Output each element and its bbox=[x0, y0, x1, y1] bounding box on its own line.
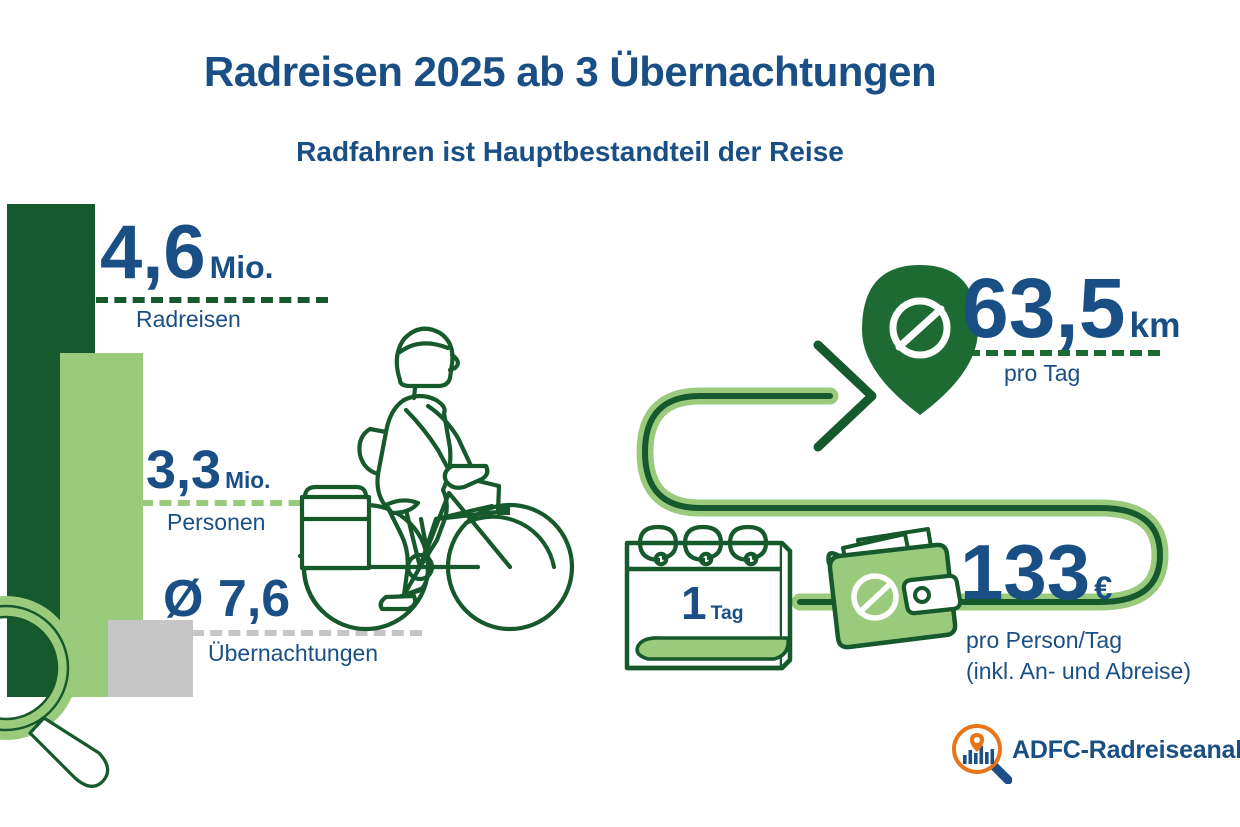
stat-unit-price: € bbox=[1094, 569, 1112, 606]
stat-number-price: 133 bbox=[960, 528, 1090, 616]
stat-value-price: 133€ bbox=[960, 533, 1112, 611]
stat-caption-price-line1: pro Person/Tag bbox=[966, 625, 1191, 656]
magnifier-logo-icon bbox=[950, 722, 1012, 784]
stat-caption-price-line2: (inkl. An- und Abreise) bbox=[966, 656, 1191, 687]
stat-caption-price: pro Person/Tag (inkl. An- und Abreise) bbox=[966, 625, 1191, 687]
adfc-logo-text: ADFC-Radreiseanalyse bbox=[1012, 736, 1240, 765]
wallet-icon bbox=[0, 0, 1240, 827]
infographic-canvas: Radreisen 2025 ab 3 Übernachtungen Radfa… bbox=[0, 0, 1240, 827]
adfc-logo[interactable]: ADFC-Radreiseanalyse bbox=[950, 722, 1230, 784]
